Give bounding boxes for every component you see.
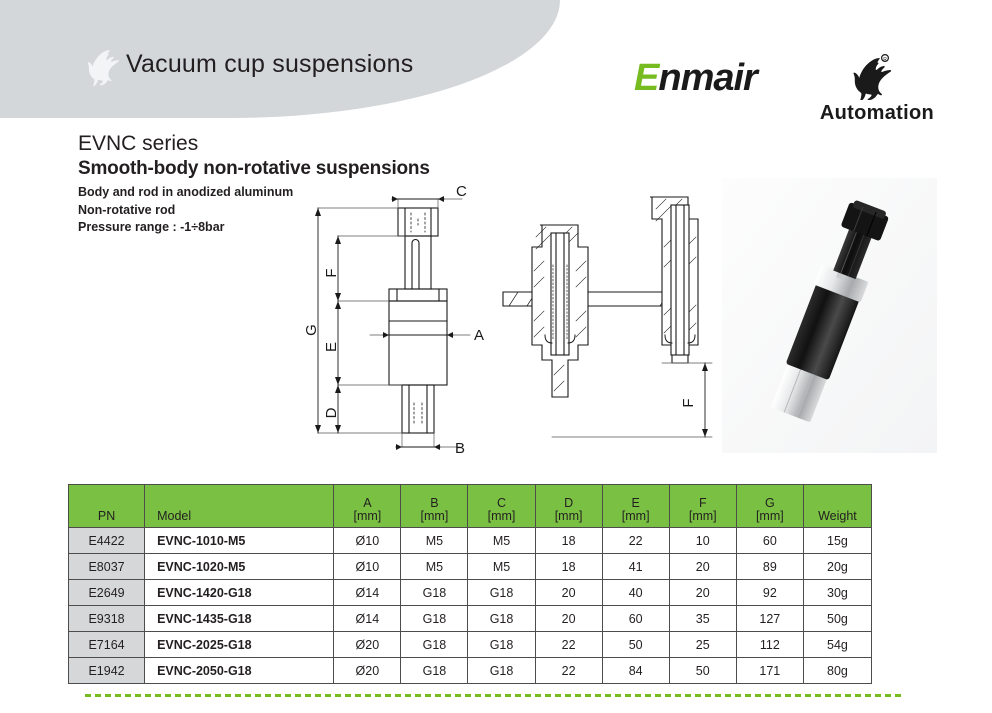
cell-weight: 80g xyxy=(803,658,871,684)
cell-g: 127 xyxy=(736,606,803,632)
cell-g: 112 xyxy=(736,632,803,658)
footer-divider xyxy=(85,694,905,697)
cell-weight: 30g xyxy=(803,580,871,606)
dim-label-b: B xyxy=(455,440,465,457)
cell-d: 18 xyxy=(535,554,602,580)
table-row[interactable]: E2649 EVNC-1420-G18 Ø14 G18 G18 20 40 20… xyxy=(69,580,872,606)
cell-b: M5 xyxy=(401,528,468,554)
table-row[interactable]: E7164 EVNC-2025-G18 Ø20 G18 G18 22 50 25… xyxy=(69,632,872,658)
cell-model: EVNC-2050-G18 xyxy=(145,658,334,684)
dim-label-f: F xyxy=(323,268,340,277)
table-row[interactable]: E8037 EVNC-1020-M5 Ø10 M5 M5 18 41 20 89… xyxy=(69,554,872,580)
col-header-c: C [mm] xyxy=(468,485,535,528)
brand-logo: Enmair R Automation xyxy=(634,58,934,126)
cell-a: Ø10 xyxy=(334,528,401,554)
cell-weight: 15g xyxy=(803,528,871,554)
cell-d: 22 xyxy=(535,658,602,684)
cell-b: G18 xyxy=(401,632,468,658)
cell-c: M5 xyxy=(468,554,535,580)
cell-pn: E7164 xyxy=(69,632,145,658)
col-header-d: D [mm] xyxy=(535,485,602,528)
cell-g: 89 xyxy=(736,554,803,580)
cell-d: 22 xyxy=(535,632,602,658)
cell-pn: E4422 xyxy=(69,528,145,554)
col-header-e: E [mm] xyxy=(602,485,669,528)
svg-text:R: R xyxy=(883,57,887,63)
cell-weight: 54g xyxy=(803,632,871,658)
cell-f: 35 xyxy=(669,606,736,632)
cell-a: Ø20 xyxy=(334,658,401,684)
cell-d: 20 xyxy=(535,580,602,606)
cell-pn: E1942 xyxy=(69,658,145,684)
col-header-b: B [mm] xyxy=(401,485,468,528)
cell-model: EVNC-1010-M5 xyxy=(145,528,334,554)
col-header-g: G [mm] xyxy=(736,485,803,528)
dim-label-c: C xyxy=(456,183,467,200)
table-header-row: PN Model A [mm] B [mm] C [mm] xyxy=(69,485,872,528)
cell-f: 25 xyxy=(669,632,736,658)
cell-pn: E9318 xyxy=(69,606,145,632)
header-banner: Vacuum cup suspensions xyxy=(0,0,560,118)
cell-g: 60 xyxy=(736,528,803,554)
col-header-model: Model xyxy=(145,485,334,528)
cell-e: 50 xyxy=(602,632,669,658)
table-row[interactable]: E1942 EVNC-2050-G18 Ø20 G18 G18 22 84 50… xyxy=(69,658,872,684)
dim-label-d: D xyxy=(323,407,340,418)
brand-subtitle: Automation xyxy=(820,102,934,125)
cell-d: 20 xyxy=(535,606,602,632)
page-title: EVNC series xyxy=(78,132,198,156)
dolphin-icon: R xyxy=(844,54,892,100)
cell-b: G18 xyxy=(401,658,468,684)
cell-model: EVNC-1435-G18 xyxy=(145,606,334,632)
cell-model: EVNC-1420-G18 xyxy=(145,580,334,606)
col-header-a: A [mm] xyxy=(334,485,401,528)
dim-label-a: A xyxy=(474,327,484,344)
cell-a: Ø10 xyxy=(334,554,401,580)
cell-e: 60 xyxy=(602,606,669,632)
cell-weight: 50g xyxy=(803,606,871,632)
cell-c: G18 xyxy=(468,606,535,632)
cell-a: Ø14 xyxy=(334,606,401,632)
dim-label-g: G xyxy=(303,324,320,336)
cell-d: 18 xyxy=(535,528,602,554)
product-photo xyxy=(722,178,937,453)
col-header-f: F [mm] xyxy=(669,485,736,528)
cell-e: 22 xyxy=(602,528,669,554)
cell-c: M5 xyxy=(468,528,535,554)
cell-g: 92 xyxy=(736,580,803,606)
cell-f: 10 xyxy=(669,528,736,554)
brand-wordmark: Enmair xyxy=(634,58,757,98)
cell-pn: E2649 xyxy=(69,580,145,606)
specifications-table: PN Model A [mm] B [mm] C [mm] xyxy=(68,484,872,684)
cell-e: 40 xyxy=(602,580,669,606)
col-header-pn: PN xyxy=(69,485,145,528)
col-header-weight: Weight xyxy=(803,485,871,528)
cell-c: G18 xyxy=(468,580,535,606)
cell-a: Ø20 xyxy=(334,632,401,658)
cell-b: M5 xyxy=(401,554,468,580)
cell-pn: E8037 xyxy=(69,554,145,580)
brand-name: nmair xyxy=(658,57,756,99)
dim-label-f-section: F xyxy=(680,398,697,407)
dim-label-e: E xyxy=(323,342,340,352)
banner-title: Vacuum cup suspensions xyxy=(126,50,413,79)
cell-f: 50 xyxy=(669,658,736,684)
cell-a: Ø14 xyxy=(334,580,401,606)
cell-e: 41 xyxy=(602,554,669,580)
cell-f: 20 xyxy=(669,580,736,606)
cell-b: G18 xyxy=(401,606,468,632)
brand-initial: E xyxy=(634,57,658,99)
table-row[interactable]: E4422 EVNC-1010-M5 Ø10 M5 M5 18 22 10 60… xyxy=(69,528,872,554)
cell-c: G18 xyxy=(468,632,535,658)
cell-f: 20 xyxy=(669,554,736,580)
cell-e: 84 xyxy=(602,658,669,684)
cell-model: EVNC-2025-G18 xyxy=(145,632,334,658)
cell-c: G18 xyxy=(468,658,535,684)
cell-b: G18 xyxy=(401,580,468,606)
table-row[interactable]: E9318 EVNC-1435-G18 Ø14 G18 G18 20 60 35… xyxy=(69,606,872,632)
table-body: E4422 EVNC-1010-M5 Ø10 M5 M5 18 22 10 60… xyxy=(69,528,872,684)
cell-weight: 20g xyxy=(803,554,871,580)
cell-model: EVNC-1020-M5 xyxy=(145,554,334,580)
cell-g: 171 xyxy=(736,658,803,684)
dolphin-icon xyxy=(80,44,120,88)
